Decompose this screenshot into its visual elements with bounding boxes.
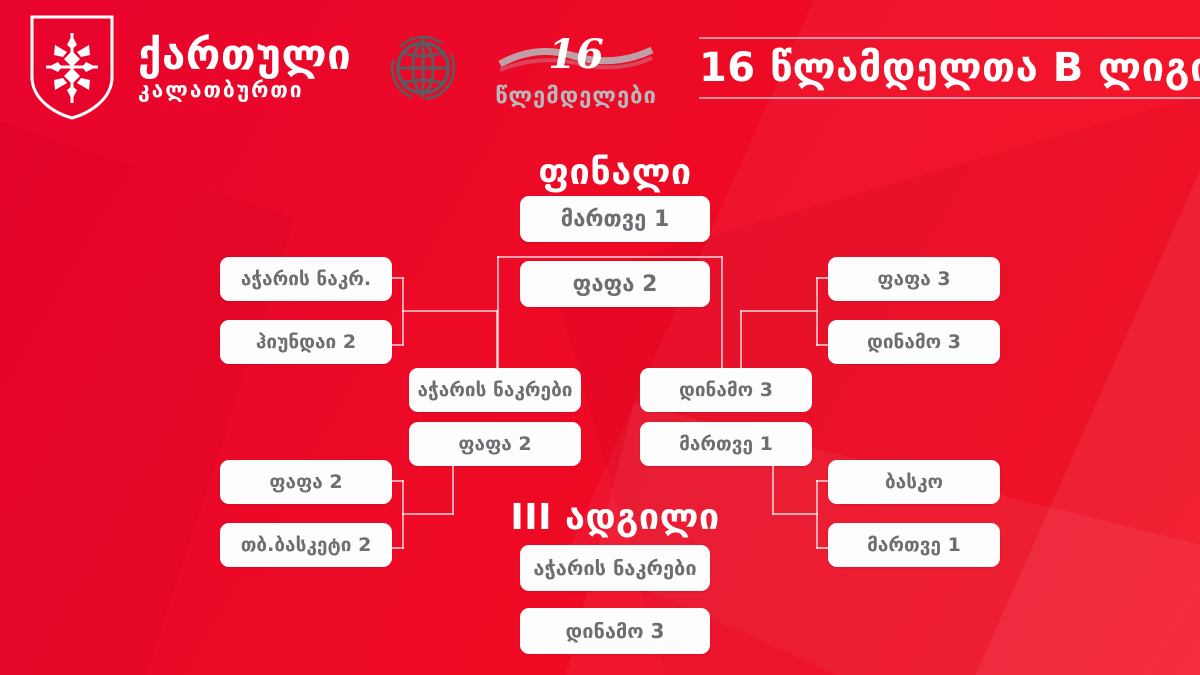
final-slot-bottom[interactable]: ფაფა 2	[520, 261, 710, 307]
connector-qf-br-bottom	[816, 547, 830, 549]
quarterfinal-top-left-slot-bottom[interactable]: ჰიუნდაი 2	[220, 320, 392, 364]
federation-subtitle: კალათბურთი	[138, 80, 351, 101]
quarterfinal-bottom-right-slot-bottom[interactable]: მართვე 1	[828, 523, 1000, 567]
stage-label-third-place: III ადგილი	[455, 497, 775, 538]
page-title: 16 წლამდელთა B ლიგის პლეიოფი	[699, 45, 1200, 91]
stage-label-final: ფინალი	[455, 152, 775, 193]
third-place-slot-bottom[interactable]: დინამო 3	[520, 608, 710, 654]
connector-qf-br-out	[772, 513, 818, 515]
connector-final-right	[721, 256, 723, 374]
quarterfinal-top-left-slot-top[interactable]: აჭარის ნაკრ.	[220, 257, 392, 301]
age-group-number-icon: 16	[496, 26, 656, 86]
federation-name: ქართული	[138, 34, 351, 76]
basketball-icon	[385, 30, 461, 106]
connector-qf-bl-out	[402, 513, 454, 515]
svg-text:16: 16	[548, 31, 604, 78]
quarterfinal-bottom-right-slot-top[interactable]: ბასკო	[828, 460, 1000, 504]
page-title-container: 16 წლამდელთა B ლიგის პლეიოფი	[699, 37, 1200, 99]
quarterfinal-top-right-slot-top[interactable]: ფაფა 3	[828, 257, 1000, 301]
quarterfinal-bottom-left-slot-bottom[interactable]: თბ.ბასკეტი 2	[220, 523, 392, 567]
connector-qf-tr-drop	[740, 310, 742, 372]
semifinal-left-slot-top[interactable]: აჭარის ნაკრები	[409, 368, 581, 412]
semifinal-right-slot-top[interactable]: დინამო 3	[640, 368, 812, 412]
connector-final-top	[497, 256, 723, 258]
semifinal-right-slot-bottom[interactable]: მართვე 1	[640, 422, 812, 466]
shield-emblem-icon	[30, 15, 114, 120]
age-group-logo: 16 წლემდელები	[495, 26, 657, 109]
connector-final-left	[497, 256, 499, 374]
quarterfinal-bottom-left-slot-top[interactable]: ფაფა 2	[220, 460, 392, 504]
connector-qf-tl-out	[402, 310, 498, 312]
connector-qf-tr-top	[816, 277, 830, 279]
page-header: ქართული კალათბურთი 16 წლემდელები	[0, 0, 1200, 135]
third-place-slot-top[interactable]: აჭარის ნაკრები	[520, 545, 710, 591]
age-group-label: წლემდელები	[495, 84, 657, 109]
final-slot-top[interactable]: მართვე 1	[520, 196, 710, 242]
semifinal-left-slot-bottom[interactable]: ფაფა 2	[409, 422, 581, 466]
federation-wordmark: ქართული კალათბურთი	[138, 34, 351, 101]
quarterfinal-top-right-slot-bottom[interactable]: დინამო 3	[828, 320, 1000, 364]
connector-qf-br-rise	[772, 462, 774, 515]
connector-qf-tr-out	[740, 310, 818, 312]
connector-qf-br-top	[816, 480, 830, 482]
connector-qf-tr-bottom	[816, 344, 830, 346]
connector-qf-bl-rise	[452, 462, 454, 515]
